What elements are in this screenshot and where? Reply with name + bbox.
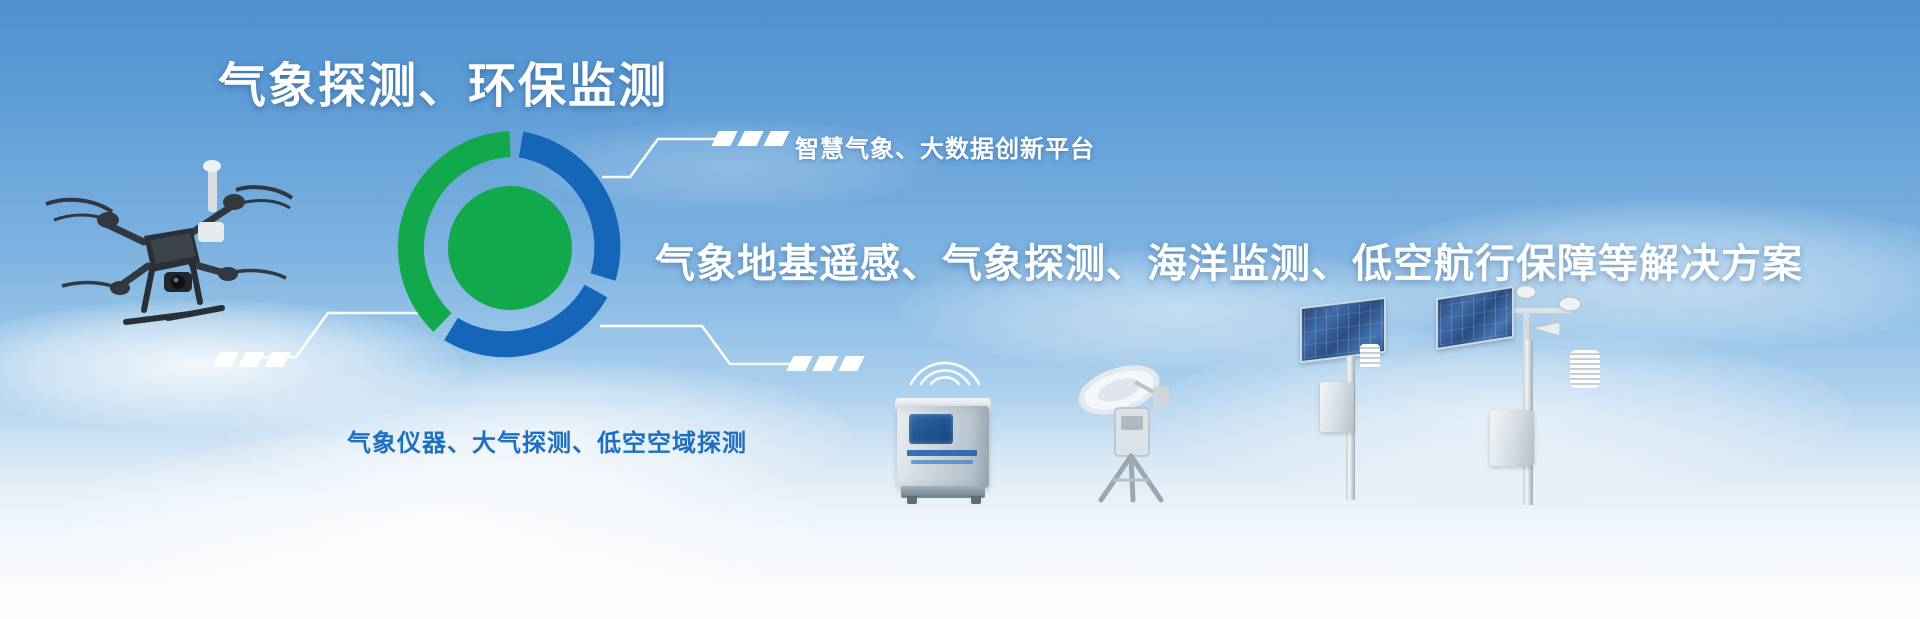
- weather-station-photo: [1420, 280, 1630, 505]
- slash-accent-bottom-right: [790, 356, 861, 371]
- solar-station-photo: [1290, 300, 1410, 500]
- radiation-shield: [1360, 344, 1380, 368]
- lidar-label-primary: [907, 450, 977, 456]
- satellite-dish-photo: [1075, 360, 1195, 505]
- drone-photo: [40, 150, 300, 350]
- callout-bottom-label: 气象仪器、大气探测、低空空域探测: [347, 423, 747, 458]
- slash-accent-top: [715, 131, 786, 146]
- lidar-foot-right: [971, 496, 981, 504]
- callout-top-label: 智慧气象、大数据创新平台: [795, 129, 1095, 164]
- instrument-cabinet: [1320, 382, 1354, 432]
- dual-arc-donut-graphic: [390, 128, 630, 368]
- signal-wave-icon: [905, 332, 985, 388]
- lidar-instrument-photo: [893, 388, 995, 502]
- lidar-optical-window: [909, 414, 953, 444]
- main-solution-line: 气象地基遥感、气象探测、海洋监测、低空航行保障等解决方案: [655, 231, 1803, 289]
- data-logger-cabinet: [1490, 410, 1534, 466]
- slash-accent-bottom-left: [216, 352, 287, 367]
- lidar-foot-left: [907, 496, 917, 504]
- page-title: 气象探测、环保监测: [218, 46, 668, 116]
- hero-banner: 气象探测、环保监测 智慧气象、大数据创新平台 气象地基遥感、气象探测、海洋监测、…: [0, 0, 1920, 619]
- radiation-shield-right: [1570, 350, 1600, 388]
- lidar-label-secondary: [911, 460, 973, 464]
- ring-inner-disc: [448, 186, 572, 310]
